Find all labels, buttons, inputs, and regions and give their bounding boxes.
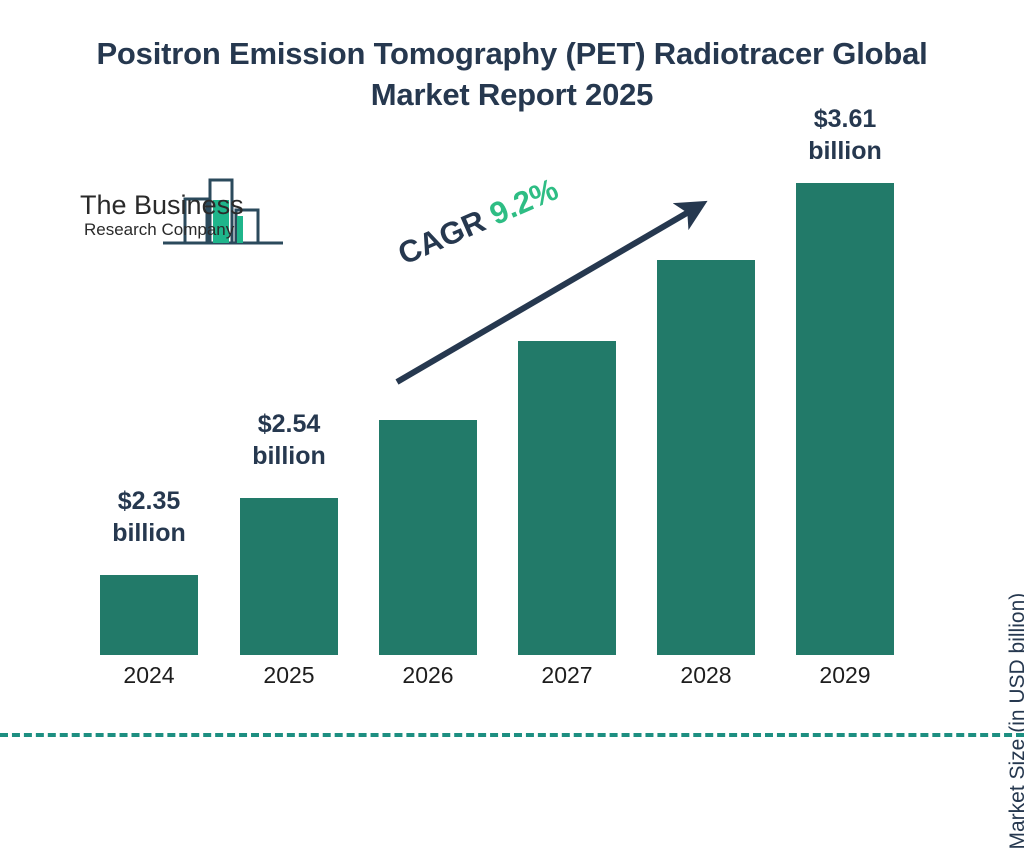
bar-2026	[379, 420, 477, 655]
bar-2024	[100, 575, 198, 655]
bar-2025	[240, 498, 338, 655]
x-label-2029: 2029	[775, 662, 915, 689]
bar-value-2024: $2.35 billion	[79, 485, 219, 549]
bar-value-2024-amount: $2.35 billion	[79, 485, 219, 549]
cagr-word: CAGR	[393, 203, 491, 271]
bar-2028	[657, 260, 755, 655]
x-label-2027: 2027	[497, 662, 637, 689]
bar-2029	[796, 183, 894, 655]
chart-canvas: Positron Emission Tomography (PET) Radio…	[0, 0, 1024, 768]
plot-area: $2.35 billion $2.54 billion $3.61 billio…	[0, 0, 1024, 768]
bar-value-2025: $2.54 billion	[219, 408, 359, 472]
bar-value-2029-amount: $3.61 billion	[775, 103, 915, 167]
cagr-percent: 9.2%	[484, 171, 563, 231]
x-label-2028: 2028	[636, 662, 776, 689]
x-label-2025: 2025	[219, 662, 359, 689]
footer-divider	[0, 733, 1024, 737]
bar-2027	[518, 341, 616, 655]
bar-value-2025-amount: $2.54 billion	[219, 408, 359, 472]
x-label-2026: 2026	[358, 662, 498, 689]
bar-value-2029: $3.61 billion	[775, 103, 915, 167]
y-axis-title: Market Size (in USD billion)	[1006, 593, 1024, 850]
cagr-label: CAGR 9.2%	[393, 171, 564, 272]
x-label-2024: 2024	[79, 662, 219, 689]
